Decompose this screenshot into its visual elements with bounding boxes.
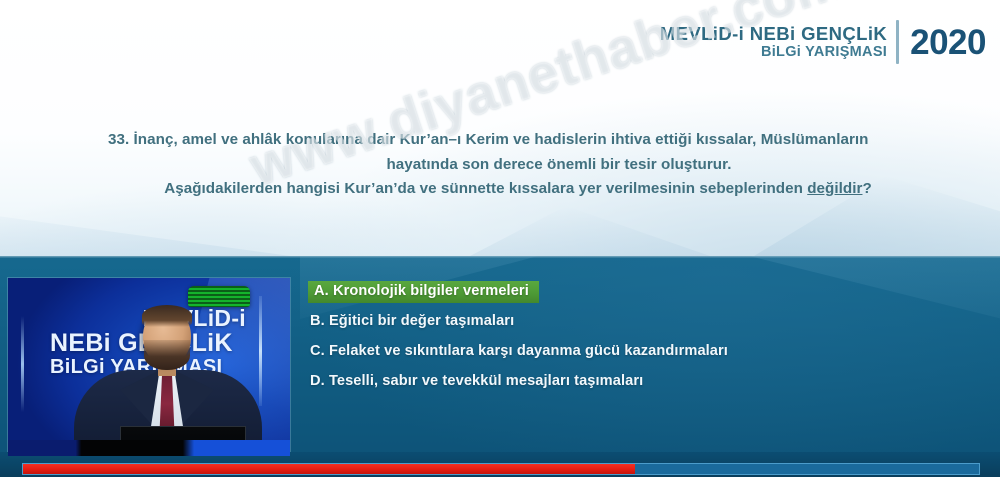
question-line-3: Aşağıdakilerden hangisi Kur’an’da ve sün… xyxy=(100,177,900,202)
event-year: 2020 xyxy=(910,25,986,60)
answer-option-c[interactable]: C. Felaket ve sıkıntılara karşı dayanma … xyxy=(308,341,928,363)
question-line-3-prefix: Aşağıdakilerden hangisi Kur’an’da ve sün… xyxy=(164,180,807,197)
decorative-facet xyxy=(470,206,710,256)
question-negation-word: değildir xyxy=(807,180,862,197)
video-progress-bar[interactable] xyxy=(22,463,980,475)
video-backdrop-line xyxy=(21,316,24,412)
answer-option-a-label[interactable]: A. Kronolojik bilgiler vermeleri xyxy=(308,281,539,303)
answer-options-list: A. Kronolojik bilgiler vermeleri B. Eğit… xyxy=(308,281,928,401)
question-line-2: hayatında son derece önemli bir tesir ol… xyxy=(100,153,900,178)
event-title-secondary: BiLGi YARIŞMASI xyxy=(761,44,887,60)
video-inset-lower-bleed xyxy=(8,440,290,456)
panel-top-highlight xyxy=(0,256,1000,258)
answer-option-a[interactable]: A. Kronolojik bilgiler vermeleri xyxy=(308,281,928,311)
video-frame: MEVLiD-i NEBi GENÇLiK BiLGi YARIŞMASI 20… xyxy=(0,0,1000,477)
event-logo-text: MEVLiD-i NEBi GENÇLiK BiLGi YARIŞMASI xyxy=(660,24,896,61)
question-text: 33. İnanç, amel ve ahlâk konularına dair… xyxy=(100,128,900,202)
decorative-facet xyxy=(0,196,330,256)
slide-upper-panel: MEVLiD-i NEBi GENÇLiK BiLGi YARIŞMASI 20… xyxy=(0,0,1000,256)
event-logo: MEVLiD-i NEBi GENÇLiK BiLGi YARIŞMASI 20… xyxy=(660,16,986,68)
answer-option-d[interactable]: D. Teselli, sabır ve tevekkül mesajları … xyxy=(308,371,928,393)
green-ribbon-decoration xyxy=(188,286,250,307)
question-line-1: 33. İnanç, amel ve ahlâk konularına dair… xyxy=(100,128,900,153)
video-progress-fill xyxy=(23,464,635,474)
speaker-beard xyxy=(144,340,190,370)
logo-divider xyxy=(896,20,899,64)
answer-option-b[interactable]: B. Eğitici bir değer taşımaları xyxy=(308,311,928,333)
event-title-primary: MEVLiD-i NEBi GENÇLiK xyxy=(660,24,887,45)
speaker-video-inset[interactable]: MEVLiD-i NEBi GENÇLiK BiLGi YARIŞMASI xyxy=(8,278,290,464)
speaker-hair xyxy=(142,305,192,327)
question-line-3-suffix: ? xyxy=(862,180,871,197)
